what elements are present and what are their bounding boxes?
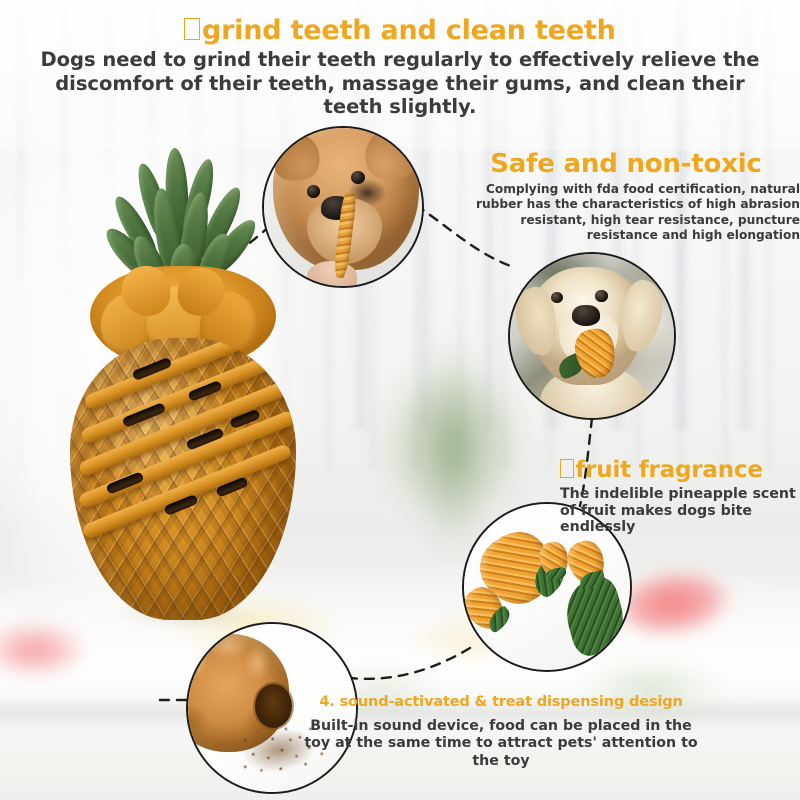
connector-toys-to-treat (350, 648, 470, 679)
grind-teeth-title-text: grind teeth and clean teeth (202, 15, 616, 46)
product-infographic: grind teeth and clean teeth Dogs need to… (0, 0, 800, 800)
section-grind-teeth: grind teeth and clean teeth Dogs need to… (0, 16, 800, 118)
section-sound-activated: 4. sound-activated & treat dispensing de… (300, 694, 702, 770)
grind-teeth-body: Dogs need to grind their teeth regularly… (0, 48, 800, 118)
section-fruit-fragrance: fruit fragrance The indelible pineapple … (560, 458, 800, 536)
safe-title: Safe and non-toxic (452, 150, 800, 178)
pineapple-body (70, 338, 296, 620)
fragrance-body: The indelible pineapple scent of fruit m… (560, 486, 800, 536)
missing-glyph-icon (184, 18, 200, 40)
section-safe-non-toxic: Safe and non-toxic Complying with fda fo… (452, 150, 800, 244)
missing-glyph-icon (560, 459, 574, 478)
photo-dog-chewing-treat-stick (262, 126, 424, 288)
safe-body: Complying with fda food certification, n… (452, 182, 800, 244)
fragrance-title: fruit fragrance (560, 458, 800, 483)
photo-golden-retriever-with-toy (508, 252, 676, 420)
fragrance-title-text: fruit fragrance (575, 457, 762, 483)
pineapple-scale-shading (70, 338, 296, 620)
sound-body: Built-in sound device, food can be place… (300, 718, 702, 770)
sound-title: 4. sound-activated & treat dispensing de… (300, 694, 702, 711)
grind-teeth-title: grind teeth and clean teeth (0, 16, 800, 45)
